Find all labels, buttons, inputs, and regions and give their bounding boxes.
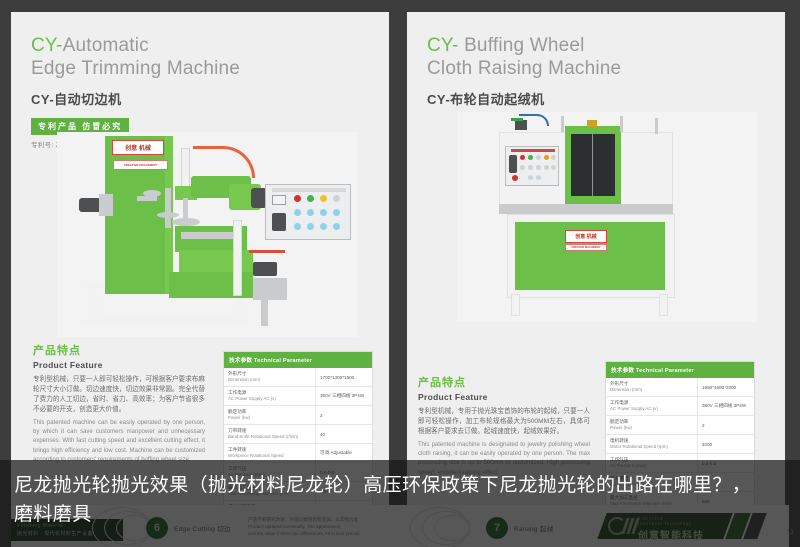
title-line2: Edge Trimming Machine [31,58,240,79]
panel-title-en: CY-Automatic Edge Trimming Machine [31,34,369,80]
spec-row-value: 380V 三相四线 3P4W [316,387,372,405]
spec-row: 外形尺寸Dimension (mm)1700*1300*1500 [224,368,372,386]
spec-value-text: 4000 [702,442,712,447]
catalog-page: CY-Automatic Edge Trimming Machine CY-自动… [0,0,800,547]
title-line2-right: Cloth Raising Machine [427,58,621,79]
machine-control-panel [265,184,351,240]
spec-value-text: 1680*1680*2000 [702,385,736,390]
feature-title-en: Product Feature [33,360,205,370]
feature-title-cn: 产品特点 [33,342,205,358]
feature-title-en-right: Product Feature [418,392,590,402]
spec-value-text: 1700*1300*1500 [320,375,354,380]
title-lead: CY- [31,35,63,56]
machine-control-panel-right [505,146,559,186]
spec-row: 工作气压Air Pressure (mpa)0.6-0.8 [606,453,754,472]
page-number: 11 [787,529,794,536]
spec-row-key: 外形尺寸Dimension (mm) [606,378,698,396]
footer-disclaimer-en-2: and the value if there are differences, … [248,531,361,537]
spec-value-text: 380V 三相四线 3P4W [702,403,746,409]
feature-block-left: 产品特点 Product Feature 专利型机械，只要一人即可轻松操作，可根… [33,342,205,465]
feature-body-en: This patented machine can be easily oper… [33,419,205,465]
spec-row: 工作电源AC Power Supply AC (v)380V 三相四线 3P4W [606,396,754,415]
panel-title-cn-right: CY-布轮自动起绒机 [427,89,765,108]
spec-key-en: AC Power Supply AC (v) [610,406,693,412]
spec-table-header: 技术参数 Technical Parameter [224,352,372,368]
spec-row-value: 380V 三相四线 3P4W [698,397,754,415]
spec-value-text: 40 [320,432,325,437]
subtitle-line-1: 尼龙抛光轮抛光效果（抛光材料尼龙轮）高压环保政策下尼龙抛光轮的出路在哪里？， [14,471,789,500]
spec-row-key: 刀带转速Band Knife Rotational Speed (r/min) [224,425,316,443]
panel-title-cn: CY-自动切边机 [31,89,369,108]
spec-row-value: 1700*1300*1500 [316,368,372,386]
feature-title-cn-right: 产品特点 [418,374,590,390]
spec-key-en: Motor Rotational Speed (rpm) [610,444,693,450]
spec-row-value: 1680*1680*2000 [698,378,754,396]
spec-table-header-right: 技术参数 Technical Parameter [606,362,754,378]
brand-cn: 创意智能科技 [638,527,704,542]
spec-row-key: 额定功率Power (kw) [224,406,316,424]
spec-row-key: 工作电源AC Power Supply AC (v) [606,397,698,415]
spec-key-en: AC Power Supply AC (v) [228,396,311,402]
product-panel-cloth-raising: CY- Buffing Wheel Cloth Raising Machine … [407,12,785,536]
subtitle-text: 尼龙抛光轮抛光效果（抛光材料尼龙轮）高压环保政策下尼龙抛光轮的出路在哪里？， 磨… [14,471,789,529]
title-rest: Automatic [63,35,149,56]
spec-row-key: 外形尺寸Dimension (mm) [224,368,316,386]
spec-row-value: 2 [316,406,372,424]
spec-value-text: 2 [320,413,323,418]
feature-body-cn-right: 专利型机械，专用于抛光珠宝首饰的布轮的起绒，只要一人即可轻松操作，加工布轮规格最… [418,407,590,437]
machine-brand-plate: 创意 机械 [112,140,164,155]
spec-key-en: Power (kw) [610,425,693,431]
spec-key-en: Workpiece Rotational Speed [228,453,311,459]
spec-row-key: 电机转速Motor Rotational Speed (rpm) [606,435,698,453]
spec-row: 工作电源AC Power Supply AC (v)380V 三相四线 3P4W [224,386,372,405]
feature-block-right: 产品特点 Product Feature 专利型机械，专用于抛光珠宝首饰的布轮的… [418,374,590,478]
spec-key-en: Band Knife Rotational Speed (r/min) [228,434,311,440]
feature-body-cn: 专利型机械，只要一人即可轻松操作，可根据客户要求布麻轮尺寸大小订做。切边速度快，… [33,375,205,415]
spec-row: 电机转速Motor Rotational Speed (rpm)4000 [606,434,754,453]
spec-row-value: 2 [698,416,754,434]
spec-value-text: 可调 Adjustable [320,450,352,456]
spec-value-text: 2 [702,423,705,428]
subtitle-line-2: 磨料磨具 [14,500,789,529]
spec-row: 额定功率Power (kw)2 [224,405,372,424]
spec-row-value: 可调 Adjustable [316,444,372,462]
spec-row: 工件转速Workpiece Rotational Speed可调 Adjusta… [224,443,372,462]
spec-row-value: 40 [316,425,372,443]
product-panel-edge-trimming: CY-Automatic Edge Trimming Machine CY-自动… [11,12,389,536]
machine-brand-subplate-right: CREATIVE MACHINERY [565,244,607,251]
spec-row: 外形尺寸Dimension (mm)1680*1680*2000 [606,378,754,396]
machine-photo-cloth-raising: 创意 机械 CREATIVE MACHINERY [457,112,757,322]
spec-key-en: Air Pressure (mpa) [610,463,693,469]
machine-brand-plate-right: 创意 机械 [565,230,607,243]
spec-row-value: 0.6-0.8 [698,454,754,472]
spec-row-key: 额定功率Power (kw) [606,416,698,434]
spec-row-key: 工件转速Workpiece Rotational Speed [224,444,316,462]
machine-brand-subplate: CREATIVE MACHINERY [113,160,168,170]
footer-left-band-cn: 抛光材料 · 现代化材料生产设备 [17,530,93,537]
spec-key-en: Dimension (mm) [610,387,693,393]
spec-row-key: 工作电源AC Power Supply AC (v) [224,387,316,405]
spec-row-value: 4000 [698,435,754,453]
title-rest-right: Buffing Wheel [464,35,585,56]
title-lead-right: CY- [427,35,459,56]
spec-row: 额定功率Power (kw)2 [606,415,754,434]
spec-key-en: Dimension (mm) [228,377,311,383]
spec-row: 刀带转速Band Knife Rotational Speed (r/min)4… [224,424,372,443]
machine-photo-edge-trimming: 创意 机械 CREATIVE MACHINERY [57,132,357,337]
spec-value-text: 380V 三相四线 3P4W [320,393,364,399]
spec-row-key: 工作气压Air Pressure (mpa) [606,454,698,472]
spec-key-en: Power (kw) [228,415,311,421]
panel-title-en-right: CY- Buffing Wheel Cloth Raising Machine [427,34,765,80]
spec-value-text: 0.6-0.8 [702,461,716,466]
